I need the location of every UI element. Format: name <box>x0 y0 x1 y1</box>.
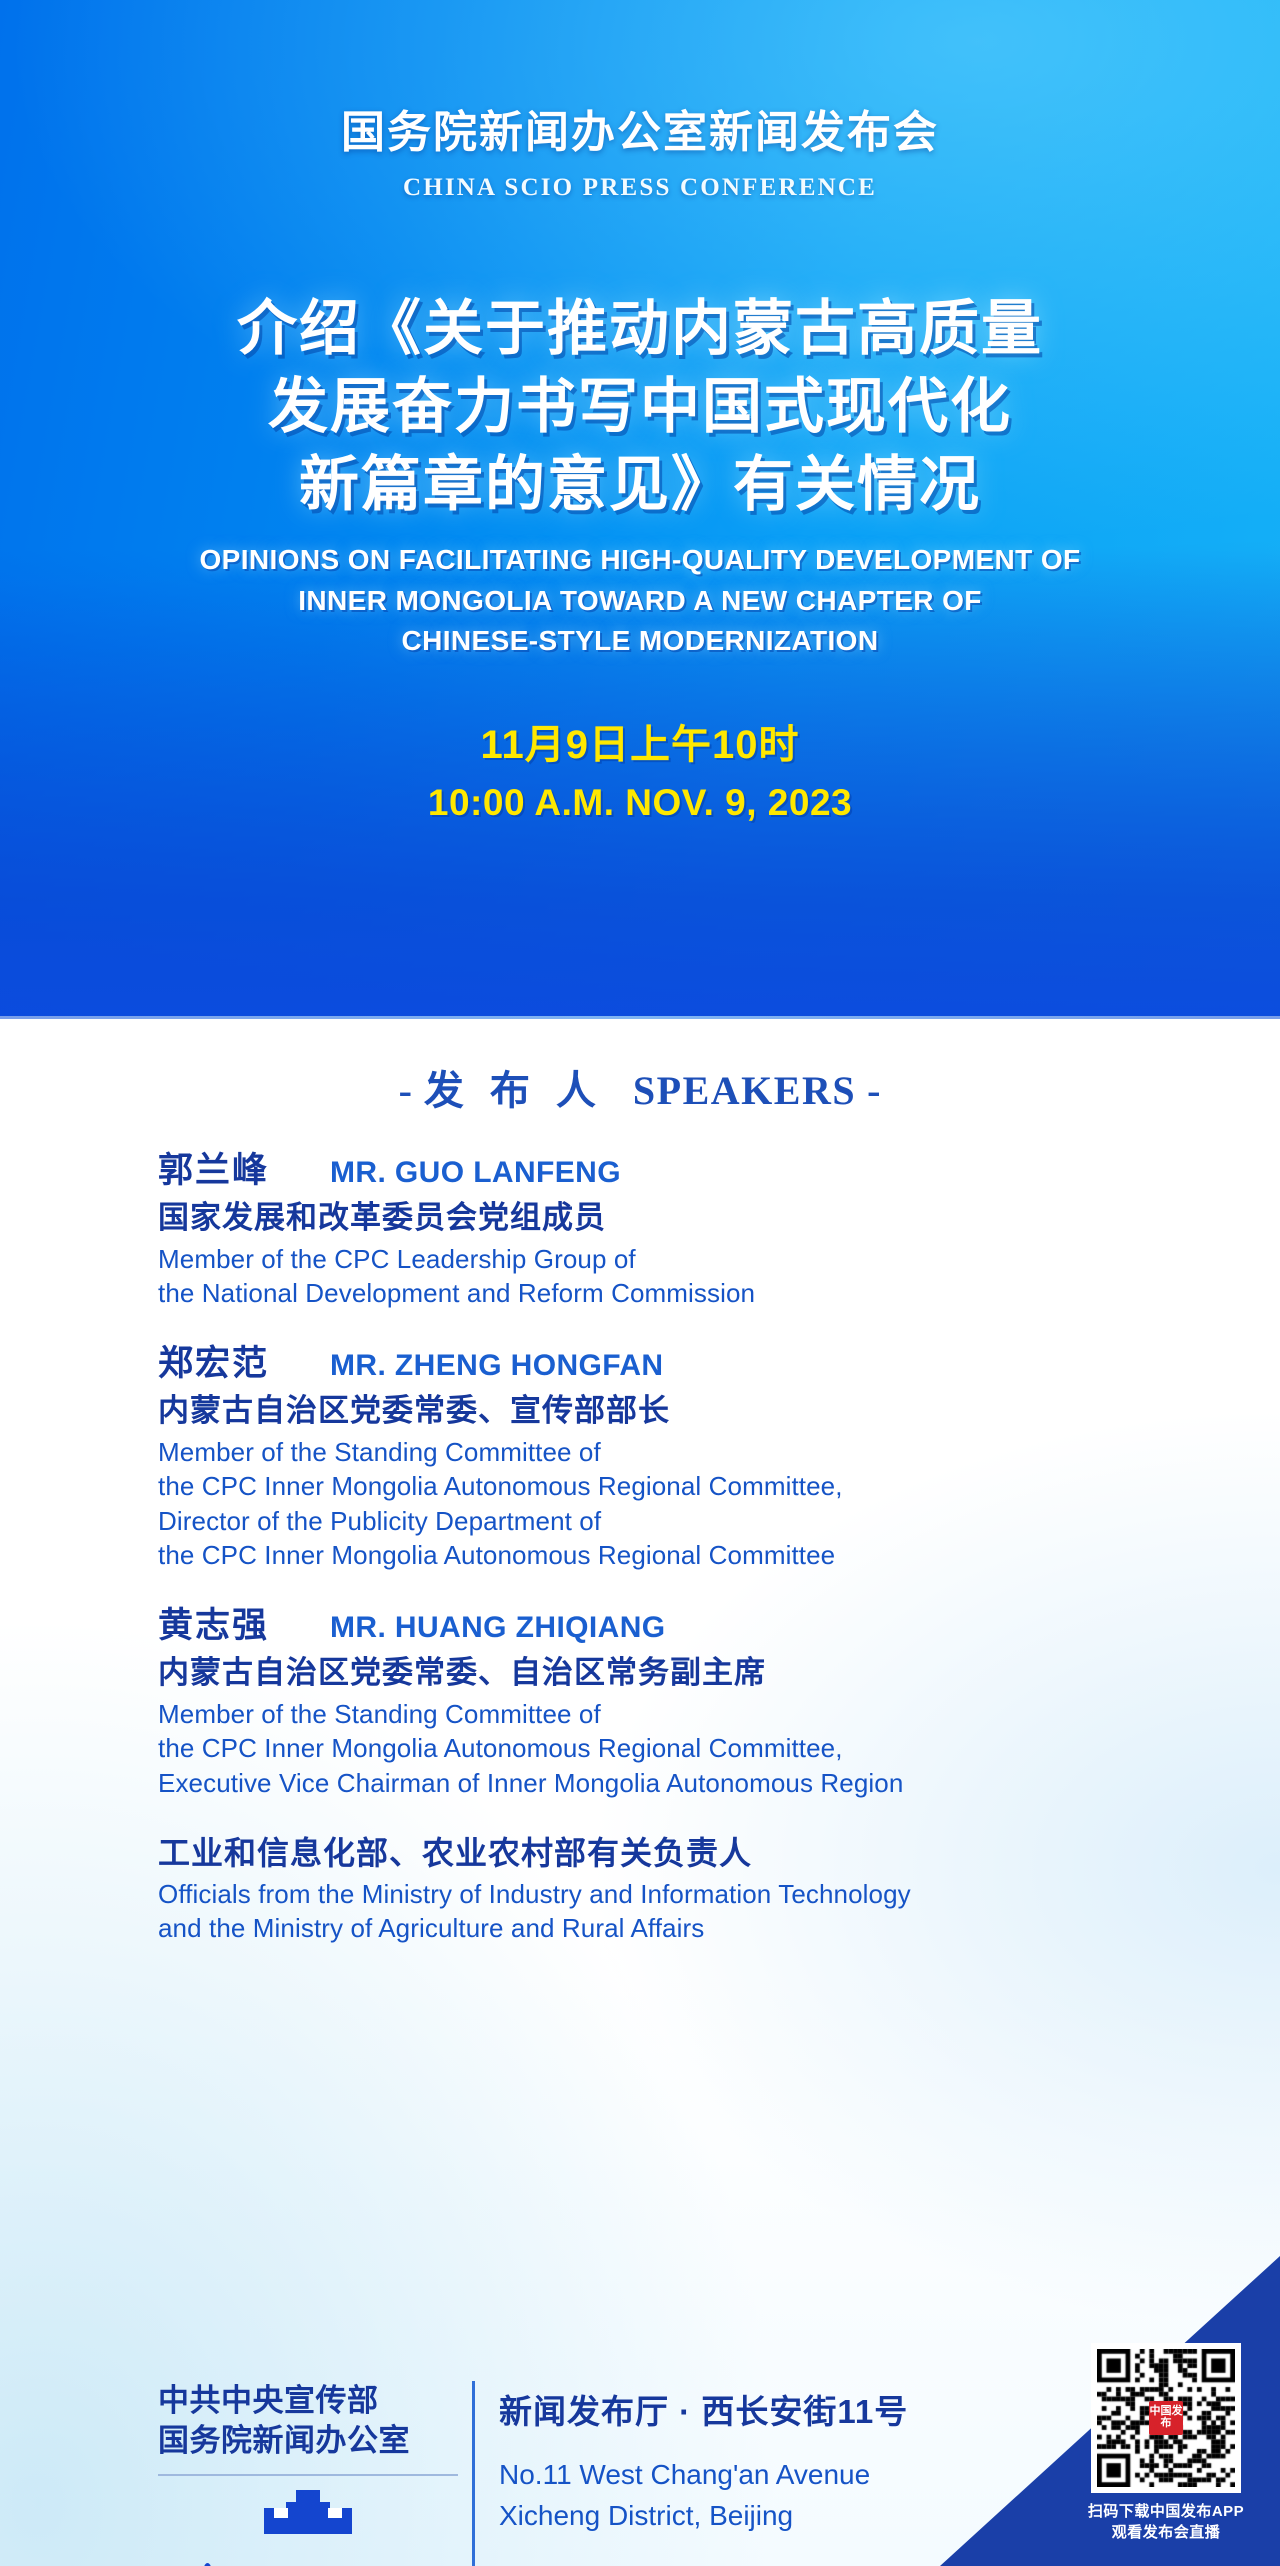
officials-group-title-en-line: and the Ministry of Agriculture and Rura… <box>158 1911 1280 1946</box>
venue-address-cn: 新闻发布厅 · 西长安街11号 <box>499 2385 908 2433</box>
speaker-item: 郭兰峰 MR. GUO LANFENG 国家发展和改革委员会党组成员 Membe… <box>158 1142 1280 1311</box>
venue-address-en-line-1: No.11 West Chang'an Avenue <box>499 2455 908 2496</box>
organizer-title-en: CHINA SCIO PRESS CONFERENCE <box>0 174 1280 202</box>
speaker-item: 郑宏范 MR. ZHENG HONGFAN 内蒙古自治区党委常委、宣传部部长 M… <box>158 1335 1280 1573</box>
qr-code-block[interactable]: 中国发布 扫码下载中国发布APP 观看发布会直播 <box>1076 2343 1256 2545</box>
speaker-title-en-line: Director of the Publicity Department of <box>158 1504 1280 1539</box>
main-title-en: OPINIONS ON FACILITATING HIGH-QUALITY DE… <box>0 540 1280 662</box>
emblem-frame <box>158 2474 458 2566</box>
qr-caption: 扫码下载中国发布APP 观看发布会直播 <box>1076 2501 1256 2545</box>
qr-caption-line-2: 观看发布会直播 <box>1076 2522 1256 2544</box>
officials-group-title-en: Officials from the Ministry of Industry … <box>158 1877 1280 1946</box>
speaker-title-en-line: the National Development and Reform Comm… <box>158 1276 1280 1311</box>
heading-dash-left: - <box>399 1068 413 1113</box>
speaker-title-en-line: Member of the Standing Committee of <box>158 1435 1280 1470</box>
speakers-heading-cn: 发 布 人 <box>424 1068 604 1113</box>
venue-address: 新闻发布厅 · 西长安街11号 No.11 West Chang'an Aven… <box>475 2381 908 2536</box>
panel-divider <box>0 1016 1280 1019</box>
speaker-title-cn: 内蒙古自治区党委常委、自治区常务副主席 <box>158 1652 1280 1695</box>
speaker-name-cn: 黄志强 <box>158 1597 330 1648</box>
organizer-title-cn: 国务院新闻办公室新闻发布会 <box>0 0 1280 160</box>
speaker-name-en: MR. ZHENG HONGFAN <box>330 1349 663 1383</box>
speaker-name-cn: 郑宏范 <box>158 1335 330 1386</box>
main-title-cn: 介绍《关于推动内蒙古高质量 发展奋力书写中国式现代化 新篇章的意见》有关情况 <box>0 290 1280 524</box>
speaker-item: 黄志强 MR. HUANG ZHIQIANG 内蒙古自治区党委常委、自治区常务副… <box>158 1597 1280 1801</box>
speaker-name-en: MR. GUO LANFENG <box>330 1156 621 1190</box>
main-title-cn-line-1: 介绍《关于推动内蒙古高质量 <box>0 290 1280 368</box>
speaker-name-row: 黄志强 MR. HUANG ZHIQIANG <box>158 1597 1280 1648</box>
footer-organizer-line-1: 中共中央宣传部 <box>158 2381 458 2421</box>
speaker-name-row: 郑宏范 MR. ZHENG HONGFAN <box>158 1335 1280 1386</box>
main-title-en-line-3: CHINESE-STYLE MODERNIZATION <box>0 621 1280 662</box>
speaker-title-en-line: the CPC Inner Mongolia Autonomous Region… <box>158 1538 1280 1573</box>
speaker-title-cn: 内蒙古自治区党委常委、宣传部部长 <box>158 1390 1280 1433</box>
speaker-name-row: 郭兰峰 MR. GUO LANFENG <box>158 1142 1280 1193</box>
qr-code-image[interactable]: 中国发布 <box>1091 2343 1241 2493</box>
event-datetime: 11月9日上午10时 10:00 A.M. NOV. 9, 2023 <box>0 712 1280 824</box>
main-title-cn-line-3: 新篇章的意见》有关情况 <box>0 446 1280 524</box>
speaker-list: 郭兰峰 MR. GUO LANFENG 国家发展和改革委员会党组成员 Membe… <box>0 1116 1280 1946</box>
main-title-cn-line-2: 发展奋力书写中国式现代化 <box>0 368 1280 446</box>
speakers-heading: - 发 布 人 SPEAKERS - <box>0 1016 1280 1116</box>
qr-center-logo: 中国发布 <box>1149 2401 1183 2435</box>
heading-dash-right: - <box>867 1068 881 1113</box>
speaker-title-cn: 国家发展和改革委员会党组成员 <box>158 1197 1280 1240</box>
speaker-title-en-line: Member of the CPC Leadership Group of <box>158 1242 1280 1277</box>
footer-organizer: 中共中央宣传部 国务院新闻办公室 <box>158 2381 475 2566</box>
hero-banner: 国务院新闻办公室新闻发布会 CHINA SCIO PRESS CONFERENC… <box>0 0 1280 1016</box>
emblem-dot-icon <box>204 2563 211 2566</box>
speaker-title-en-line: Member of the Standing Committee of <box>158 1697 1280 1732</box>
speaker-title-en: Member of the Standing Committee of the … <box>158 1435 1280 1573</box>
main-title-en-line-2: INNER MONGOLIA TOWARD A NEW CHAPTER OF <box>0 581 1280 622</box>
footer-info: 中共中央宣传部 国务院新闻办公室 新闻发布厅 · 西长安街11号 N <box>158 2381 908 2566</box>
emblem-notch-right <box>328 2508 342 2518</box>
speaker-name-en: MR. HUANG ZHIQIANG <box>330 1611 666 1645</box>
officials-group-title-cn: 工业和信息化部、农业农村部有关负责人 <box>158 1831 1280 1875</box>
speakers-heading-en: SPEAKERS <box>633 1068 856 1113</box>
speaker-title-en: Member of the CPC Leadership Group of th… <box>158 1242 1280 1311</box>
event-datetime-cn: 11月9日上午10时 <box>0 712 1280 770</box>
main-title-en-line-1: OPINIONS ON FACILITATING HIGH-QUALITY DE… <box>0 540 1280 581</box>
speaker-title-en-line: the CPC Inner Mongolia Autonomous Region… <box>158 1469 1280 1504</box>
speaker-title-en: Member of the Standing Committee of the … <box>158 1697 1280 1801</box>
speaker-title-en-line: the CPC Inner Mongolia Autonomous Region… <box>158 1731 1280 1766</box>
tiananmen-emblem-icon <box>260 2490 356 2538</box>
venue-address-en-line-2: Xicheng District, Beijing <box>499 2496 908 2537</box>
speaker-name-cn: 郭兰峰 <box>158 1142 330 1193</box>
officials-group-title-en-line: Officials from the Ministry of Industry … <box>158 1877 1280 1912</box>
speakers-panel: - 发 布 人 SPEAKERS - 郭兰峰 MR. GUO LANFENG 国… <box>0 1016 1280 2566</box>
qr-caption-line-1: 扫码下载中国发布APP <box>1076 2501 1256 2523</box>
emblem-notch-left <box>274 2508 288 2518</box>
event-datetime-en: 10:00 A.M. NOV. 9, 2023 <box>0 782 1280 824</box>
venue-address-en: No.11 West Chang'an Avenue Xicheng Distr… <box>499 2455 908 2536</box>
press-conference-poster: 国务院新闻办公室新闻发布会 CHINA SCIO PRESS CONFERENC… <box>0 0 1280 2566</box>
footer-organizer-line-2: 国务院新闻办公室 <box>158 2421 458 2461</box>
speaker-title-en-line: Executive Vice Chairman of Inner Mongoli… <box>158 1766 1280 1801</box>
officials-group-item: 工业和信息化部、农业农村部有关负责人 Officials from the Mi… <box>158 1831 1280 1946</box>
